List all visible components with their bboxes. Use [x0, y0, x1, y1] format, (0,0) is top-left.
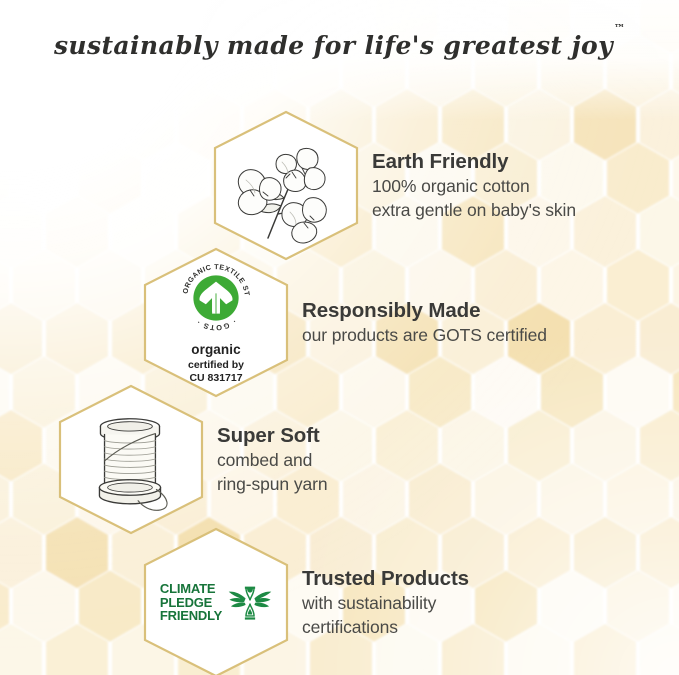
climate-pledge-friendly-badge: CLIMATE PLEDGE FRIENDLY	[142, 527, 290, 675]
feature-heading: Super Soft	[217, 423, 327, 448]
thread-spool-badge	[57, 384, 205, 535]
cpf-wordmark: CLIMATE PLEDGE FRIENDLY	[160, 582, 222, 623]
feature-trusted-products: CLIMATE PLEDGE FRIENDLY	[142, 527, 469, 675]
feature-line-1: with sustainability	[302, 592, 469, 615]
thread-spool-icon	[75, 404, 187, 516]
trademark-symbol: ™	[614, 22, 625, 35]
feature-line-1: 100% organic cotton	[372, 175, 576, 198]
earth-friendly-text: Earth Friendly 100% organic cotton extra…	[360, 149, 576, 221]
gots-certified-by: certified by CU 831717	[188, 359, 244, 385]
feature-heading: Earth Friendly	[372, 149, 576, 174]
feature-line-2: ring-spun yarn	[217, 473, 327, 496]
cpf-line-1: CLIMATE	[160, 582, 222, 596]
responsibly-made-text: Responsibly Made our products are GOTS c…	[290, 298, 547, 347]
infographic-canvas: sustainably made for life's greatest joy…	[0, 0, 679, 675]
gots-organic-label: organic	[191, 342, 240, 357]
climate-pledge-friendly-icon: CLIMATE PLEDGE FRIENDLY	[160, 582, 272, 623]
feature-super-soft: Super Soft combed and ring-spun yarn	[57, 384, 327, 535]
cotton-branch-icon	[226, 126, 346, 246]
feature-line-2: certifications	[302, 616, 469, 639]
cpf-winged-hourglass-icon	[228, 582, 272, 622]
feature-responsibly-made: GLOBAL ORGANIC TEXTILE STANDARD · GOTS ·…	[142, 247, 547, 398]
page-title: sustainably made for life's greatest joy…	[0, 22, 679, 60]
gots-organic-certification-icon: GLOBAL ORGANIC TEXTILE STANDARD · GOTS ·	[177, 259, 255, 337]
gots-certificate-id: CU 831717	[188, 372, 244, 385]
page-title-text: sustainably made for life's greatest joy	[54, 31, 613, 60]
feature-line-2: extra gentle on baby's skin	[372, 199, 576, 222]
cpf-line-3: FRIENDLY	[160, 609, 222, 623]
feature-line-1: combed and	[217, 449, 327, 472]
gots-certification-badge: GLOBAL ORGANIC TEXTILE STANDARD · GOTS ·…	[142, 247, 290, 398]
feature-heading: Responsibly Made	[302, 298, 547, 323]
feature-line-1: our products are GOTS certified	[302, 324, 547, 347]
feature-earth-friendly: Earth Friendly 100% organic cotton extra…	[212, 110, 576, 261]
gots-certified-by-line: certified by	[188, 359, 244, 372]
cotton-branch-badge	[212, 110, 360, 261]
trusted-products-text: Trusted Products with sustainability cer…	[290, 566, 469, 638]
super-soft-text: Super Soft combed and ring-spun yarn	[205, 423, 327, 495]
cpf-line-2: PLEDGE	[160, 596, 222, 610]
feature-heading: Trusted Products	[302, 566, 469, 591]
